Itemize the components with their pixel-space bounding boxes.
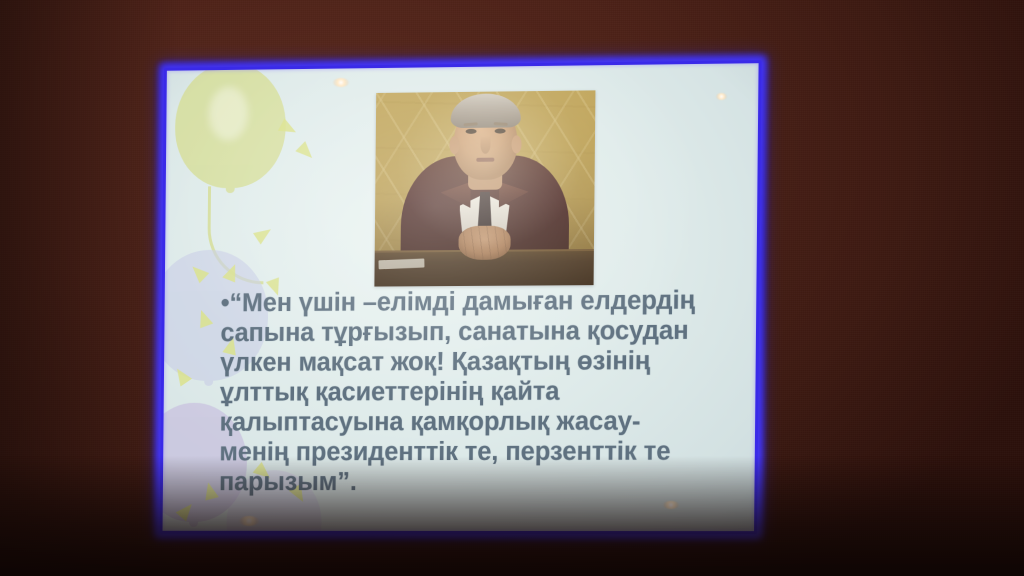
projection-area: •“Мен үшін –елімді дамыған елдердің сапы…	[162, 62, 760, 532]
projected-slide-photo: •“Мен үшін –елімді дамыған елдердің сапы…	[0, 0, 1024, 576]
projection-border	[160, 60, 762, 534]
wall-left-shading	[0, 0, 180, 576]
